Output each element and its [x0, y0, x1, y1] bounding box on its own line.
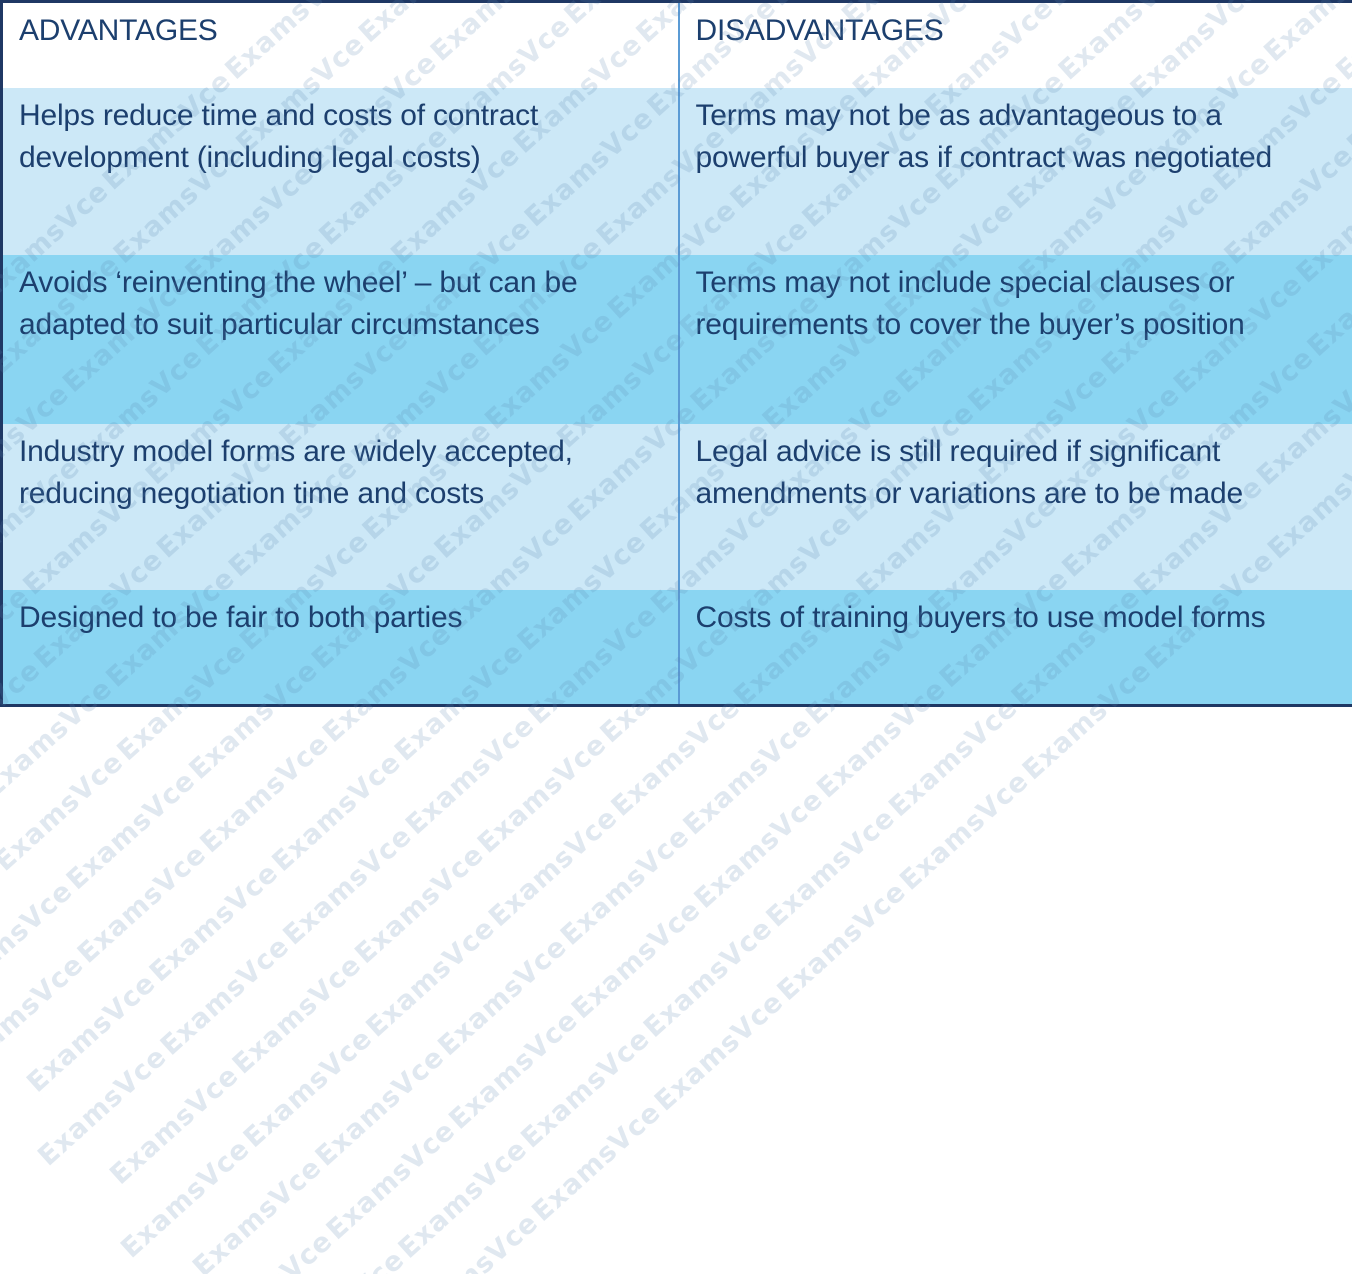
- watermark-text: ExamsVce: [22, 1028, 186, 1184]
- column-header-disadvantages-label: DISADVANTAGES: [696, 10, 1340, 52]
- watermark-text: ExamsVce: [628, 899, 792, 1055]
- watermark-text: ExamsVce: [260, 1231, 424, 1274]
- cell-advantage-4: Designed to be fair to both parties: [2, 590, 679, 706]
- watermark-text: ExamsVce: [0, 843, 20, 999]
- column-header-disadvantages: DISADVANTAGES: [679, 2, 1352, 89]
- cell-disadvantage-4-text: Costs of training buyers to use model fo…: [696, 597, 1340, 639]
- watermark-text: ExamsVce: [188, 1212, 352, 1274]
- watermark-text: ExamsVce: [62, 825, 226, 981]
- watermark-text: ExamsVce: [134, 844, 298, 1000]
- cell-advantage-1: Helps reduce time and costs of contract …: [2, 88, 679, 255]
- watermark-text: ExamsVce: [267, 807, 431, 963]
- watermark-text: ExamsVce: [256, 733, 420, 889]
- watermark-text: ExamsVce: [350, 899, 514, 1055]
- cell-disadvantage-1-text: Terms may not be as advantageous to a po…: [696, 95, 1340, 179]
- advantages-disadvantages-table: ADVANTAGES DISADVANTAGES Helps reduce ti…: [0, 0, 1352, 707]
- watermark-text: ExamsVce: [177, 1138, 341, 1274]
- watermark-text: ExamsVce: [51, 751, 215, 907]
- watermark-text: ExamsVce: [217, 936, 381, 1092]
- table-row: Designed to be fair to both parties Cost…: [2, 590, 1352, 706]
- watermark-text: ExamsVce: [473, 788, 637, 944]
- cell-advantage-2: Avoids ‘reinventing the wheel’ – but can…: [2, 255, 679, 424]
- watermark-text: ExamsVce: [311, 1101, 475, 1257]
- table-row: Avoids ‘reinventing the wheel’ – but can…: [2, 255, 1352, 424]
- cell-disadvantage-4: Costs of training buyers to use model fo…: [679, 590, 1352, 706]
- column-header-advantages: ADVANTAGES: [2, 2, 679, 89]
- watermark-text: ExamsVce: [516, 1083, 680, 1239]
- watermark-text: ExamsVce: [556, 881, 720, 1037]
- cell-advantage-4-text: Designed to be fair to both parties: [19, 597, 656, 639]
- watermark-text: ExamsVce: [184, 715, 348, 871]
- watermark-text: ExamsVce: [679, 770, 843, 926]
- cell-advantage-3: Industry model forms are widely accepted…: [2, 424, 679, 590]
- watermark-text: ExamsVce: [639, 973, 803, 1129]
- watermark-text: ExamsVce: [0, 935, 103, 1091]
- cell-disadvantage-3: Legal advice is still required if signif…: [679, 424, 1352, 590]
- watermark-text: ExamsVce: [751, 789, 915, 945]
- watermark-text: ExamsVce: [0, 862, 92, 1018]
- table-row: Helps reduce time and costs of contract …: [2, 88, 1352, 255]
- watermark-text: ExamsVce: [462, 715, 626, 871]
- watermark-text: ExamsVce: [505, 1010, 669, 1166]
- cell-disadvantage-1: Terms may not be as advantageous to a po…: [679, 88, 1352, 255]
- watermark-text: ExamsVce: [390, 696, 554, 852]
- table-row: Industry model forms are widely accepted…: [2, 424, 1352, 590]
- watermark-text: ExamsVce: [762, 862, 926, 1018]
- watermark-text: ExamsVce: [545, 807, 709, 963]
- watermark-text: ExamsVce: [145, 917, 309, 1073]
- watermark-text: ExamsVce: [300, 1028, 464, 1184]
- cell-disadvantage-2: Terms may not include special clauses or…: [679, 255, 1352, 424]
- table-header-row: ADVANTAGES DISADVANTAGES: [2, 2, 1352, 89]
- watermark-text: ExamsVce: [11, 954, 175, 1110]
- column-header-advantages-label: ADVANTAGES: [19, 10, 656, 52]
- watermark-text: ExamsVce: [383, 1120, 547, 1274]
- cell-disadvantage-2-text: Terms may not include special clauses or…: [696, 262, 1340, 346]
- cell-advantage-2-text: Avoids ‘reinventing the wheel’ – but can…: [19, 262, 656, 346]
- watermark-text: ExamsVce: [0, 733, 143, 889]
- cell-advantage-1-text: Helps reduce time and costs of contract …: [19, 95, 656, 179]
- watermark-text: ExamsVce: [884, 752, 1048, 908]
- watermark-text: ExamsVce: [228, 1009, 392, 1165]
- watermark-text: ExamsVce: [394, 1194, 558, 1274]
- watermark-text: ExamsVce: [433, 991, 597, 1147]
- cell-advantage-3-text: Industry model forms are widely accepted…: [19, 431, 656, 515]
- watermark-text: ExamsVce: [105, 1120, 269, 1274]
- watermark-text: ExamsVce: [668, 697, 832, 853]
- watermark-text: ExamsVce: [422, 918, 586, 1074]
- watermark-text: ExamsVce: [0, 770, 9, 926]
- watermark-text: ExamsVce: [339, 825, 503, 981]
- cell-disadvantage-3-text: Legal advice is still required if signif…: [696, 431, 1340, 515]
- watermark-text: ExamsVce: [94, 1046, 258, 1202]
